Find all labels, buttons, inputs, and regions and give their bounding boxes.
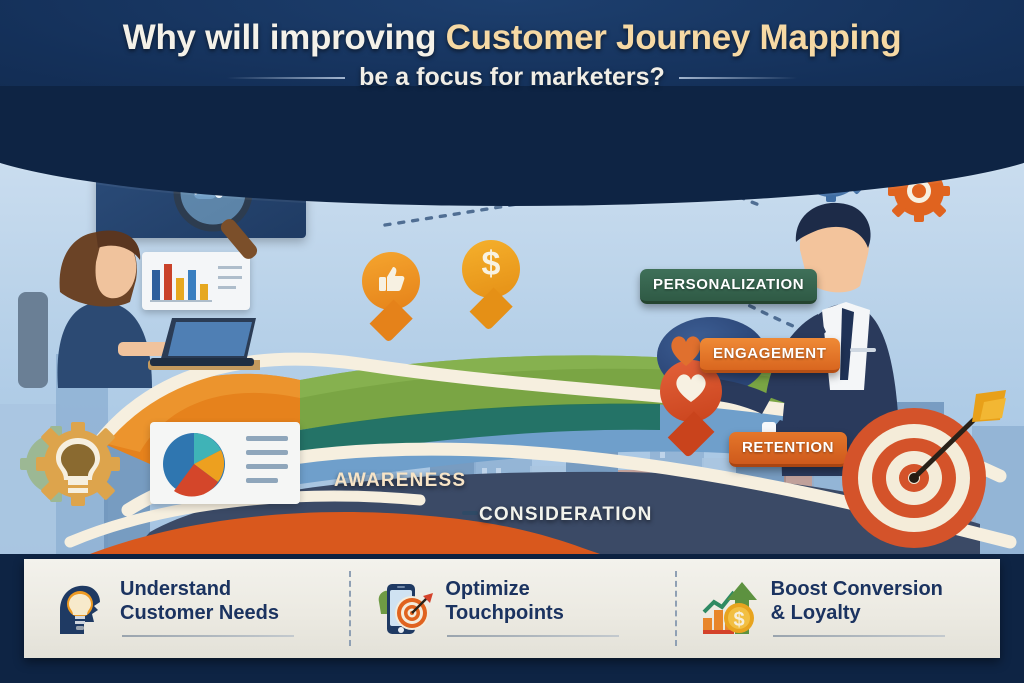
thumbs-up-pin-icon bbox=[362, 252, 420, 326]
benefit-underline bbox=[773, 635, 945, 637]
benefit-line-2: Customer Needs bbox=[120, 602, 279, 624]
tag-engagement[interactable]: ENGAGEMENT bbox=[700, 338, 840, 373]
growth-chart-coin-icon: $ bbox=[701, 580, 759, 638]
benefit-label: Understand Customer Needs bbox=[120, 578, 279, 638]
subtitle-rule-left bbox=[227, 77, 345, 79]
benefit-item-boost-conversion-loyalty[interactable]: $ Boost Conversion & Loyalty bbox=[675, 559, 1000, 658]
tag-personalization[interactable]: PERSONALIZATION bbox=[640, 269, 817, 304]
subtitle-rule-right bbox=[679, 77, 797, 79]
dollar-sign-pin-icon: $ bbox=[462, 240, 520, 314]
benefit-line-1: Understand bbox=[120, 578, 231, 600]
benefit-item-understand-customer-needs[interactable]: Understand Customer Needs bbox=[24, 559, 349, 658]
benefit-line-1: Optimize bbox=[445, 578, 529, 600]
benefit-line-1: Boost Conversion bbox=[771, 578, 943, 600]
infographic-poster: AWARENESS CONSIDERATION PURCHASE LOYALTY bbox=[0, 0, 1024, 683]
page-subtitle: be a focus for marketers? bbox=[359, 63, 665, 92]
benefit-label: Optimize Touchpoints bbox=[445, 578, 564, 638]
page-title: Why will improving Customer Journey Mapp… bbox=[0, 18, 1024, 57]
tag-retention[interactable]: RETENTION bbox=[729, 432, 847, 467]
phone-target-icon bbox=[375, 580, 433, 638]
benefit-item-optimize-touchpoints[interactable]: Optimize Touchpoints bbox=[349, 559, 674, 658]
benefit-underline bbox=[122, 635, 294, 637]
header-text-block: Why will improving Customer Journey Mapp… bbox=[0, 0, 1024, 118]
title-prefix: Why will improving bbox=[123, 18, 446, 57]
target-bullseye-icon bbox=[838, 388, 1010, 554]
benefit-line-2: & Loyalty bbox=[771, 602, 861, 624]
benefit-line-2: Touchpoints bbox=[445, 602, 564, 624]
head-lightbulb-icon bbox=[50, 580, 108, 638]
svg-text:$: $ bbox=[733, 609, 744, 631]
heart-icon bbox=[668, 334, 704, 368]
subtitle-row: be a focus for marketers? bbox=[0, 63, 1024, 92]
benefit-label: Boost Conversion & Loyalty bbox=[771, 578, 943, 638]
benefit-underline bbox=[447, 635, 619, 637]
lightbulb-gear-icon bbox=[20, 412, 140, 516]
key-benefits-bar: Understand Customer Needs bbox=[24, 559, 1000, 658]
title-highlight: Customer Journey Mapping bbox=[446, 18, 902, 57]
